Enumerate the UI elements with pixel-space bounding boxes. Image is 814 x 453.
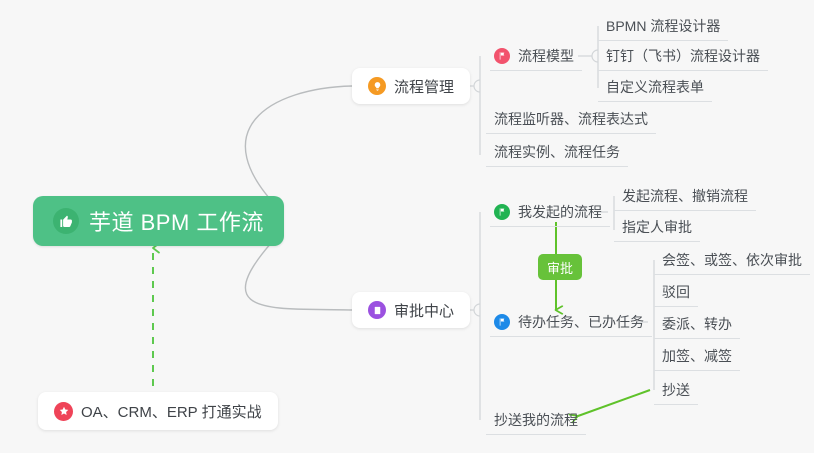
connector-branch-to-process-model-2 <box>474 86 480 92</box>
branch-approval-center[interactable]: 审批中心 <box>352 292 470 328</box>
node-label: 加签、减签 <box>662 346 732 366</box>
branch-label: 流程管理 <box>394 76 454 97</box>
connector-root-to-process-management <box>245 86 352 212</box>
star-icon <box>54 402 73 421</box>
node-label: 抄送 <box>662 380 690 400</box>
callout-integration-practice[interactable]: OA、CRM、ERP 打通实战 <box>38 392 278 430</box>
node-bpmn-designer[interactable]: BPMN 流程设计器 <box>598 11 728 41</box>
connector-approval-corner-up <box>474 304 480 310</box>
root-label: 芋道 BPM 工作流 <box>89 205 264 237</box>
node-label: 待办任务、已办任务 <box>518 312 644 332</box>
node-start-cancel-process[interactable]: 发起流程、撤销流程 <box>614 181 756 211</box>
node-label: 会签、或签、依次审批 <box>662 250 802 270</box>
flag-icon <box>494 314 510 330</box>
node-process-model[interactable]: 流程模型 <box>490 41 582 71</box>
node-delegate-transfer[interactable]: 委派、转办 <box>654 309 740 339</box>
node-countersign-orsign-sequential[interactable]: 会签、或签、依次审批 <box>654 245 810 275</box>
node-label: 发起流程、撤销流程 <box>622 186 748 206</box>
node-todo-done-tasks[interactable]: 待办任务、已办任务 <box>490 307 652 337</box>
node-label: 委派、转办 <box>662 314 732 334</box>
node-process-listener-expression[interactable]: 流程监听器、流程表达式 <box>486 104 656 134</box>
node-cc[interactable]: 抄送 <box>654 375 698 405</box>
node-reject[interactable]: 驳回 <box>654 277 698 307</box>
node-add-remove-sign[interactable]: 加签、减签 <box>654 341 740 371</box>
root-node[interactable]: 芋道 BPM 工作流 <box>33 196 284 246</box>
node-label: 流程模型 <box>518 46 574 66</box>
connector-approval-corner-down <box>474 310 480 316</box>
thumbs-up-icon <box>53 208 79 234</box>
node-label: 我发起的流程 <box>518 202 602 222</box>
node-label: 流程实例、流程任务 <box>494 142 620 162</box>
branch-label: 审批中心 <box>394 300 454 321</box>
node-assignee-approval[interactable]: 指定人审批 <box>614 212 700 242</box>
flag-icon <box>494 48 510 64</box>
node-label: 钉钉（飞书）流程设计器 <box>606 46 760 66</box>
node-custom-process-form[interactable]: 自定义流程表单 <box>598 72 712 102</box>
mindmap-canvas: 芋道 BPM 工作流 流程管理 流程模型 BPMN 流程设计器 钉钉（飞书）流程… <box>0 0 814 453</box>
node-my-initiated-processes[interactable]: 我发起的流程 <box>490 197 610 227</box>
flag-icon <box>494 204 510 220</box>
branch-process-management[interactable]: 流程管理 <box>352 68 470 104</box>
node-label: BPMN 流程设计器 <box>606 16 720 36</box>
approval-badge-label: 审批 <box>547 258 573 277</box>
node-label: 自定义流程表单 <box>606 77 704 97</box>
node-label: 指定人审批 <box>622 217 692 237</box>
arrow-cc-to-cc-my-processes <box>578 390 650 416</box>
node-label: 驳回 <box>662 282 690 302</box>
node-process-instance-task[interactable]: 流程实例、流程任务 <box>486 137 628 167</box>
clipboard-icon <box>368 301 386 319</box>
node-dingtalk-feishu-designer[interactable]: 钉钉（飞书）流程设计器 <box>598 41 768 71</box>
callout-label: OA、CRM、ERP 打通实战 <box>81 401 262 422</box>
node-label: 流程监听器、流程表达式 <box>494 109 648 129</box>
node-label: 抄送我的流程 <box>494 410 578 430</box>
node-cc-my-processes[interactable]: 抄送我的流程 <box>486 405 586 435</box>
approval-badge: 审批 <box>538 254 582 280</box>
lightbulb-icon <box>368 77 386 95</box>
connector-branch-to-process-model <box>474 80 480 86</box>
